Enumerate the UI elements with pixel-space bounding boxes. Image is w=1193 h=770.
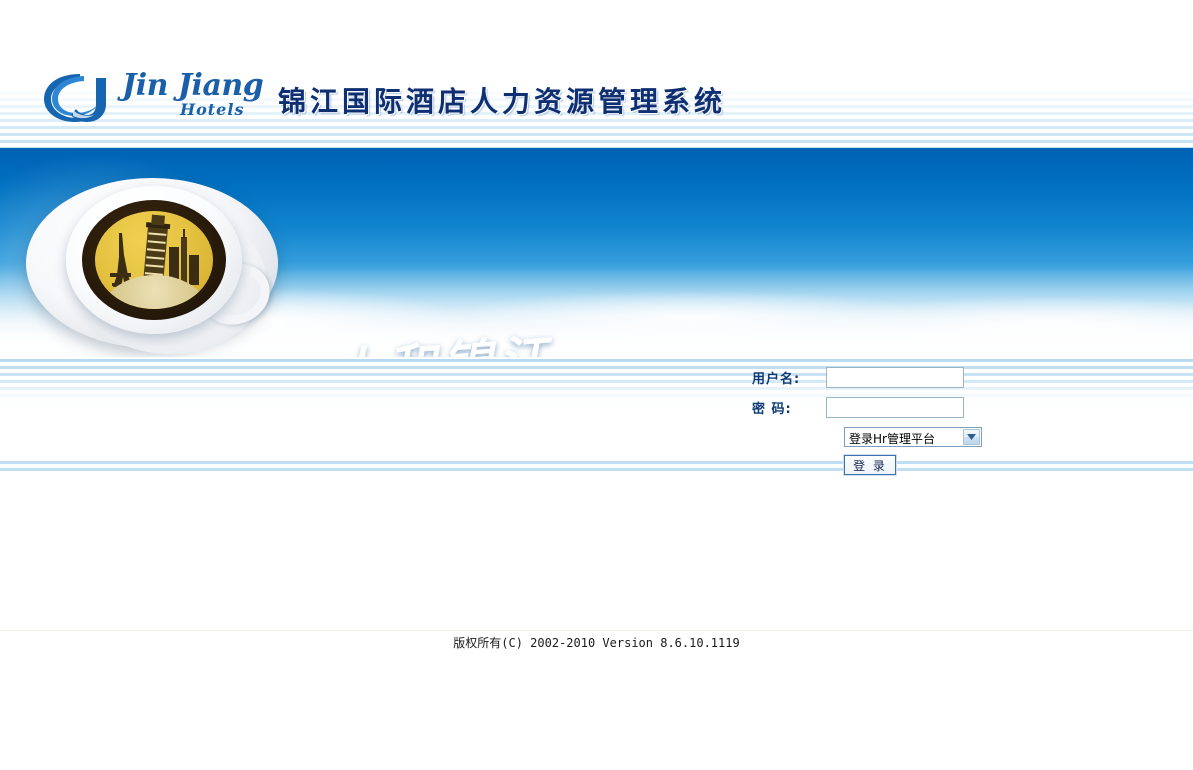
password-row: 密 码: xyxy=(752,393,1012,421)
password-input[interactable] xyxy=(826,397,964,418)
chevron-down-icon[interactable] xyxy=(963,429,980,445)
content-area xyxy=(0,482,1193,770)
cup-shape xyxy=(66,186,242,334)
logo-subtitle: Hotels xyxy=(180,100,244,119)
platform-select[interactable]: 登录Hr管理平台 xyxy=(844,427,982,447)
coffee-cup-illustration xyxy=(8,160,288,350)
login-form: 用户名: 密 码: 登录Hr管理平台 登 录 xyxy=(752,363,1012,479)
jinjiang-swoosh-icon xyxy=(40,70,118,131)
copyright-text: 版权所有(C) 2002-2010 Version 8.6.10.1119 xyxy=(453,631,739,651)
page-title: 锦江国际酒店人力资源管理系统 xyxy=(278,80,726,120)
submit-row: 登 录 xyxy=(752,451,1012,479)
login-stripe-pattern-top xyxy=(0,359,1193,405)
username-label: 用户名: xyxy=(752,368,826,387)
username-row: 用户名: xyxy=(752,363,1012,391)
coffee-surface xyxy=(82,200,226,320)
crema-artwork xyxy=(95,211,213,309)
platform-row: 登录Hr管理平台 xyxy=(752,423,1012,451)
hero-banner: 人和锦江 礼待天下 xyxy=(0,148,1193,357)
logo-wordmark: Jin Jiang xyxy=(122,68,263,104)
login-panel: 用户名: 密 码: 登录Hr管理平台 登 录 xyxy=(0,357,1193,482)
jinjiang-logo[interactable]: Jin Jiang Hotels xyxy=(40,68,252,128)
password-label: 密 码: xyxy=(752,398,826,417)
page-footer: 版权所有(C) 2002-2010 Version 8.6.10.1119 xyxy=(0,630,1193,668)
page-header: Jin Jiang Hotels 锦江国际酒店人力资源管理系统 xyxy=(0,0,1193,148)
platform-select-value: 登录Hr管理平台 xyxy=(849,430,935,447)
username-input[interactable] xyxy=(826,367,964,388)
login-button[interactable]: 登 录 xyxy=(844,455,896,475)
login-stripe-pattern-bottom xyxy=(0,461,1193,475)
